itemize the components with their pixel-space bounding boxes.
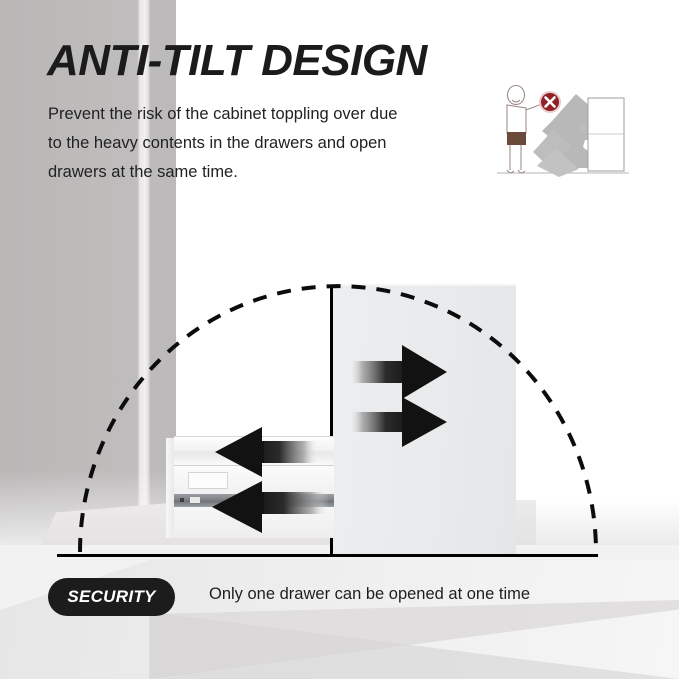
security-badge-label: SECURITY xyxy=(67,587,155,607)
ground-line xyxy=(57,554,598,557)
cabinet-force-arrow-top xyxy=(348,345,447,399)
footer-caption: Only one drawer can be opened at one tim… xyxy=(209,585,530,604)
tipping-arc-dashed xyxy=(80,286,596,552)
infographic-canvas: ANTI-TILT DESIGN Prevent the risk of the… xyxy=(0,0,679,679)
drawer-pull-arrow-top xyxy=(215,427,319,477)
security-badge: SECURITY xyxy=(48,578,175,616)
drawer-pull-arrow-bottom xyxy=(212,481,329,533)
cabinet-force-arrow-bottom xyxy=(348,397,447,447)
